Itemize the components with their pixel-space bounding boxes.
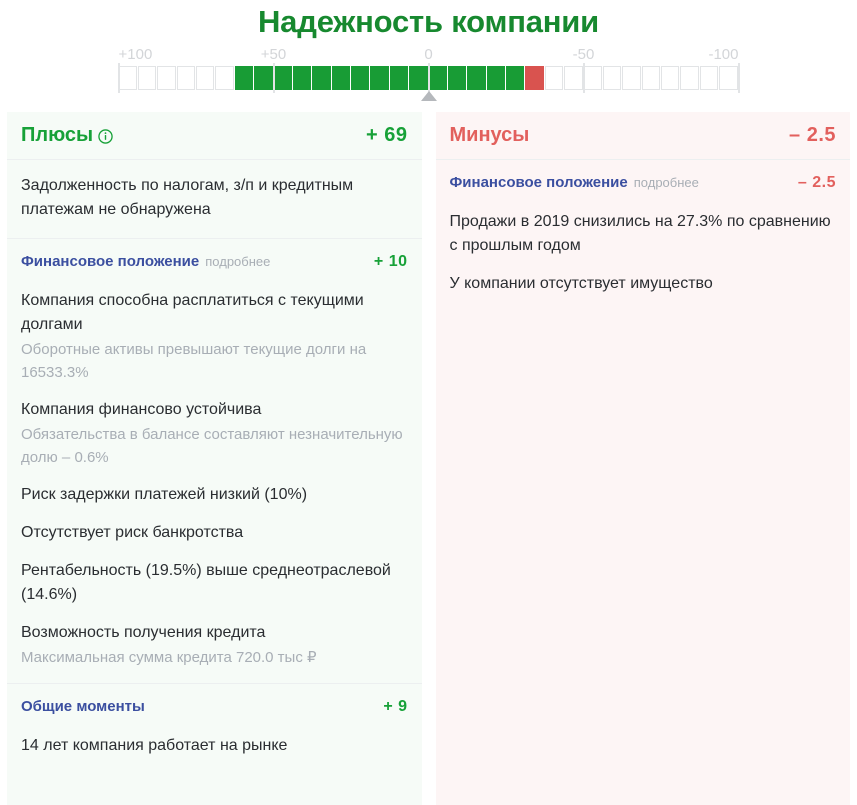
section-items: Компания способна расплатиться с текущим…: [7, 275, 422, 683]
item-main-text: У компании отсутствует имущество: [450, 272, 837, 296]
scale-cell: [138, 66, 156, 90]
scale-cell: [332, 66, 350, 90]
scale-cell: [661, 66, 679, 90]
scale-cell: [177, 66, 195, 90]
list-item: Рентабельность (19.5%) выше среднеотрасл…: [21, 545, 408, 607]
section-name[interactable]: Общие моменты: [21, 698, 145, 715]
item-main-text: Рентабельность (19.5%) выше среднеотрасл…: [21, 559, 408, 607]
scale-cell: [700, 66, 718, 90]
section: Общие моменты+ 914 лет компания работает…: [7, 684, 422, 772]
scale-tickmark: [583, 63, 585, 93]
scale-cell: [545, 66, 563, 90]
scale-cell: [603, 66, 621, 90]
scale-tickmark: [738, 63, 740, 93]
item-sub-text: Максимальная сумма кредита 720.0 тыс ₽: [21, 646, 408, 669]
item-main-text: Компания финансово устойчива: [21, 398, 408, 422]
list-item: Риск задержки платежей низкий (10%): [21, 469, 408, 507]
scale-cell: [370, 66, 388, 90]
plus-score: + 69: [366, 124, 407, 147]
section-score: + 10: [374, 253, 408, 271]
section-header: Финансовое положениеподробнее+ 10: [7, 239, 422, 275]
scale-cell: [642, 66, 660, 90]
section-more-link[interactable]: подробнее: [205, 254, 270, 269]
page-title: Надежность компании: [0, 0, 857, 40]
item-main-text: 14 лет компания работает на рынке: [21, 734, 408, 758]
plus-column-header: Плюсы + 69: [7, 112, 422, 160]
section-name[interactable]: Финансовое положение: [21, 253, 199, 270]
minus-column-header: Минусы – 2.5: [436, 112, 851, 160]
scale-cell: [506, 66, 524, 90]
scale-marker: [421, 91, 437, 101]
section: Финансовое положениеподробнее– 2.5Продаж…: [436, 160, 851, 310]
scale-cell: [487, 66, 505, 90]
minus-column: Минусы – 2.5 Финансовое положениеподробн…: [436, 112, 851, 805]
reliability-page: Надежность компании +100+500-50-100 Плюс…: [0, 0, 857, 805]
columns-container: Плюсы + 69 Задолженность по налогам, з/п…: [0, 112, 857, 805]
scale-cell: [622, 66, 640, 90]
section-more-link[interactable]: подробнее: [634, 175, 699, 190]
scale-cell: [584, 66, 602, 90]
scale-cell: [390, 66, 408, 90]
plus-column: Плюсы + 69 Задолженность по налогам, з/п…: [7, 112, 422, 805]
plus-intro-block: Задолженность по налогам, з/п и кредитны…: [7, 160, 422, 238]
scale-cell: [351, 66, 369, 90]
scale-tick-label: +100: [119, 46, 153, 63]
scale-cell: [215, 66, 233, 90]
scale-cell: [680, 66, 698, 90]
section-items: 14 лет компания работает на рынке: [7, 720, 422, 772]
item-main-text: Компания способна расплатиться с текущим…: [21, 289, 408, 337]
plus-title: Плюсы: [21, 124, 93, 146]
scale-cell: [312, 66, 330, 90]
scale-cell: [719, 66, 737, 90]
info-circle-icon[interactable]: [98, 129, 113, 144]
item-sub-text: Оборотные активы превышают текущие долги…: [21, 338, 408, 384]
reliability-scale: +100+500-50-100: [119, 46, 739, 90]
scale-tickmark: [118, 63, 120, 93]
plus-title-group: Плюсы: [21, 124, 113, 147]
section-name-group: Общие моменты: [21, 698, 145, 716]
scale-tickmark: [428, 63, 430, 93]
section-header: Общие моменты+ 9: [7, 684, 422, 720]
scale-cell: [409, 66, 427, 90]
minus-score: – 2.5: [789, 124, 836, 147]
plus-intro-section: Задолженность по налогам, з/п и кредитны…: [7, 160, 422, 239]
list-item: Отсутствует риск банкротства: [21, 507, 408, 545]
section: Финансовое положениеподробнее+ 10Компани…: [7, 239, 422, 684]
item-main-text: Риск задержки платежей низкий (10%): [21, 483, 408, 507]
section-name-group: Финансовое положениеподробнее: [450, 174, 699, 192]
scale-cell: [293, 66, 311, 90]
section-score: + 9: [383, 698, 407, 716]
plus-sections: Финансовое положениеподробнее+ 10Компани…: [7, 239, 422, 772]
item-sub-text: Обязательства в балансе составляют незна…: [21, 423, 408, 469]
scale-cell: [157, 66, 175, 90]
item-main-text: Продажи в 2019 снизились на 27.3% по сра…: [450, 210, 837, 258]
scale-tick-label: -100: [708, 46, 738, 63]
scale-cell: [429, 66, 447, 90]
list-item: Возможность получения кредитаМаксимальна…: [21, 607, 408, 669]
section-name-group: Финансовое положениеподробнее: [21, 253, 270, 271]
scale-cell: [274, 66, 292, 90]
scale-bar[interactable]: [119, 66, 739, 90]
list-item: Компания способна расплатиться с текущим…: [21, 275, 408, 384]
scale-tick-label: -50: [573, 46, 595, 63]
scale-tickmark: [273, 63, 275, 93]
scale-cell: [254, 66, 272, 90]
plus-intro-text: Задолженность по налогам, з/п и кредитны…: [21, 174, 408, 222]
scale-tick-label: 0: [424, 46, 432, 63]
scale-cell: [467, 66, 485, 90]
minus-title: Минусы: [450, 124, 530, 147]
section-header: Финансовое положениеподробнее– 2.5: [436, 160, 851, 196]
section-score: – 2.5: [798, 174, 836, 192]
scale-cell: [235, 66, 253, 90]
scale-cell: [525, 66, 543, 90]
minus-sections: Финансовое положениеподробнее– 2.5Продаж…: [436, 160, 851, 310]
scale-tick-label: +50: [261, 46, 286, 63]
list-item: Компания финансово устойчиваОбязательств…: [21, 384, 408, 469]
scale-cell: [196, 66, 214, 90]
scale-cell: [448, 66, 466, 90]
list-item: Продажи в 2019 снизились на 27.3% по сра…: [450, 196, 837, 258]
section-name[interactable]: Финансовое положение: [450, 174, 628, 191]
item-main-text: Отсутствует риск банкротства: [21, 521, 408, 545]
item-main-text: Возможность получения кредита: [21, 621, 408, 645]
list-item: 14 лет компания работает на рынке: [21, 720, 408, 758]
scale-cell: [119, 66, 137, 90]
list-item: У компании отсутствует имущество: [450, 258, 837, 296]
scale-cell: [564, 66, 582, 90]
section-items: Продажи в 2019 снизились на 27.3% по сра…: [436, 196, 851, 310]
